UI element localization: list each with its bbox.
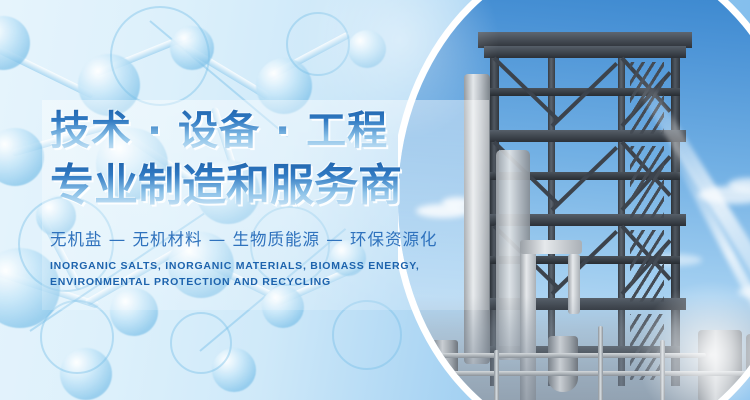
molecule-ring xyxy=(332,300,402,370)
molecule-bond xyxy=(266,31,351,80)
tower-staircase xyxy=(630,62,664,134)
molecule-atom xyxy=(0,16,30,70)
storage-tank xyxy=(548,336,578,392)
molecule-ring xyxy=(170,312,232,374)
ground-pipe xyxy=(660,340,665,400)
storage-tank xyxy=(432,340,458,388)
process-pipe xyxy=(520,240,582,254)
molecule-atom xyxy=(0,128,44,186)
headline-line-1: 技术 · 设备 · 工程 xyxy=(50,104,520,158)
molecule-atom xyxy=(348,30,386,68)
storage-tank xyxy=(746,334,750,398)
tower-staircase xyxy=(630,146,664,218)
banner-copy: 技术 · 设备 · 工程 专业制造和服务商 无机盐 — 无机材料 — 生物质能源… xyxy=(50,104,520,290)
molecule-atom xyxy=(170,26,214,70)
tower-staircase xyxy=(630,230,664,302)
molecule-ring xyxy=(40,300,114,374)
headline-line-2: 专业制造和服务商 xyxy=(50,158,520,214)
molecule-bond xyxy=(95,31,195,77)
molecule-ring xyxy=(110,6,210,106)
molecule-atom xyxy=(212,348,256,392)
ground-pipe xyxy=(418,371,750,376)
subtitle-chinese: 无机盐 — 无机材料 — 生物质能源 — 环保资源化 xyxy=(50,226,520,250)
molecule-bond xyxy=(0,42,95,99)
subtitle-english: INORGANIC SALTS, INORGANIC MATERIALS, BI… xyxy=(50,258,450,290)
molecule-bond xyxy=(184,44,270,99)
promo-banner: 技术 · 设备 · 工程 专业制造和服务商 无机盐 — 无机材料 — 生物质能源… xyxy=(0,0,750,400)
tower-deck xyxy=(484,46,686,58)
ground-pipe xyxy=(598,326,603,400)
storage-tank xyxy=(698,330,742,400)
molecule-ring xyxy=(286,12,350,76)
ground-pipe xyxy=(494,350,499,400)
molecule-atom xyxy=(60,348,112,400)
